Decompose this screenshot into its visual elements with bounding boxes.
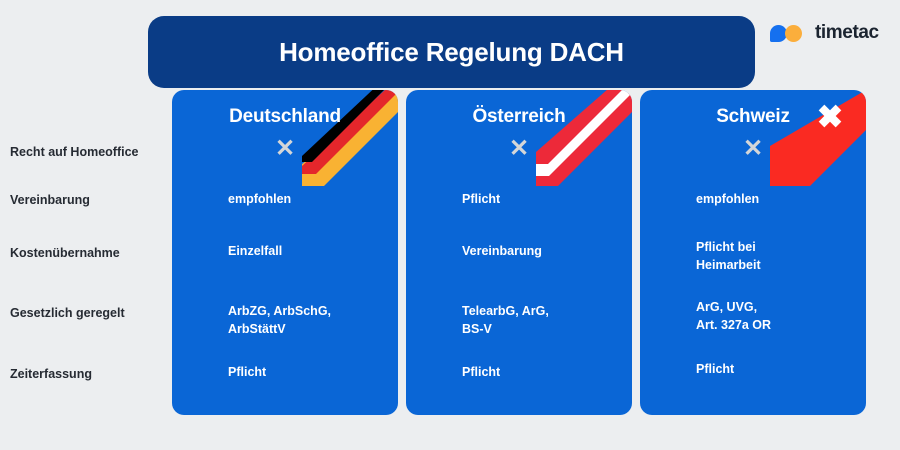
page-title: Homeoffice Regelung DACH [279,37,624,68]
right-to-homeoffice-oesterreich: ✕ [406,137,632,161]
right-to-homeoffice-schweiz: ✕ [640,137,866,161]
cell-zeiterfassung-deutschland: Pflicht [228,363,393,381]
logo-orange-circle-icon [785,25,802,42]
cell-zeiterfassung-schweiz: Pflicht [696,360,861,378]
title-banner: Homeoffice Regelung DACH [148,16,755,88]
cell-vereinbarung-schweiz: empfohlen [696,190,861,208]
row-label-vereinbarung: Vereinbarung [10,193,168,209]
row-label-zeiterfassung: Zeiterfassung [10,367,168,383]
row-label-kostenuebernahme: Kostenübernahme [10,246,168,262]
infographic-canvas: Homeoffice Regelung DACH timetac Recht a… [0,0,900,450]
country-name-deutschland: Deutschland [172,106,398,128]
logo-wordmark: timetac [815,22,879,44]
row-label-gesetzlich-geregelt: Gesetzlich geregelt [10,306,168,322]
cell-gesetzlich-geregelt-deutschland: ArbZG, ArbSchG, ArbStättV [228,302,393,338]
cell-kostenuebernahme-deutschland: Einzelfall [228,242,393,260]
cell-gesetzlich-geregelt-schweiz: ArG, UVG, Art. 327a OR [696,298,861,334]
cell-gesetzlich-geregelt-oesterreich: TelearbG, ArG, BS-V [462,302,627,338]
logo-mark-icon [770,24,806,42]
country-card-deutschland[interactable]: Deutschland ✕ empfohlen Einzelfall ArbZG… [172,90,398,415]
timetac-logo: timetac [770,22,879,44]
country-card-oesterreich[interactable]: Österreich ✕ Pflicht Vereinbarung Telear… [406,90,632,415]
cell-vereinbarung-deutschland: empfohlen [228,190,393,208]
row-label-recht-auf-homeoffice: Recht auf Homeoffice [10,145,168,161]
country-card-schweiz[interactable]: Schweiz ✕ empfohlen Pflicht bei Heimarbe… [640,90,866,415]
cell-vereinbarung-oesterreich: Pflicht [462,190,627,208]
row-label-column: Recht auf Homeoffice Vereinbarung Kosten… [0,85,168,420]
cell-kostenuebernahme-schweiz: Pflicht bei Heimarbeit [696,238,861,274]
country-name-oesterreich: Österreich [406,106,632,128]
cell-zeiterfassung-oesterreich: Pflicht [462,363,627,381]
cell-kostenuebernahme-oesterreich: Vereinbarung [462,242,627,260]
right-to-homeoffice-deutschland: ✕ [172,137,398,161]
country-name-schweiz: Schweiz [640,106,866,128]
